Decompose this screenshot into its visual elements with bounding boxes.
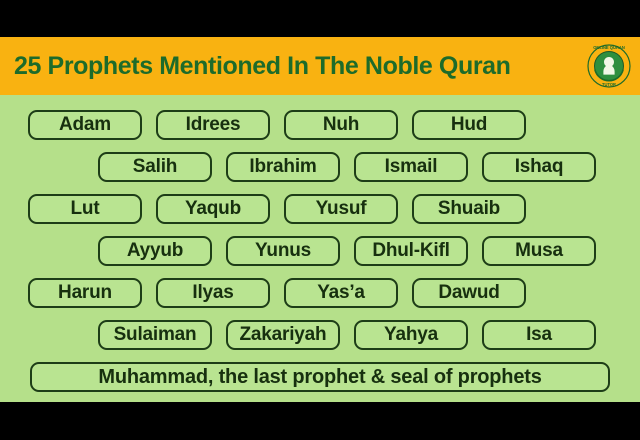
prophet-row: Harun Ilyas Yas’a Dawud	[0, 272, 640, 314]
header-banner: 25 Prophets Mentioned In The Noble Quran…	[0, 37, 640, 95]
prophets-list-panel: Adam Idrees Nuh Hud Salih Ibrahim Ismail…	[0, 95, 640, 402]
prophet-pill[interactable]: Zakariyah	[226, 320, 340, 350]
page-title: 25 Prophets Mentioned In The Noble Quran	[14, 54, 511, 79]
prophet-pill[interactable]: Shuaib	[412, 194, 526, 224]
prophet-pill[interactable]: Yahya	[354, 320, 468, 350]
prophet-pill[interactable]: Ilyas	[156, 278, 270, 308]
prophet-pill[interactable]: Ibrahim	[226, 152, 340, 182]
screenshot-root: 25 Prophets Mentioned In The Noble Quran…	[0, 0, 640, 440]
prophet-row: Lut Yaqub Yusuf Shuaib	[0, 188, 640, 230]
prophet-pill[interactable]: Ismail	[354, 152, 468, 182]
prophet-pill[interactable]: Salih	[98, 152, 212, 182]
prophet-pill[interactable]: Ishaq	[482, 152, 596, 182]
prophet-pill[interactable]: Ayyub	[98, 236, 212, 266]
prophet-pill[interactable]: Lut	[28, 194, 142, 224]
prophet-pill[interactable]: Nuh	[284, 110, 398, 140]
prophet-pill[interactable]: Yunus	[226, 236, 340, 266]
prophet-pill[interactable]: Yas’a	[284, 278, 398, 308]
prophet-row: Ayyub Yunus Dhul-Kifl Musa	[0, 230, 640, 272]
prophet-pill-muhammad[interactable]: Muhammad, the last prophet & seal of pro…	[30, 362, 610, 392]
letterbox-top-bar	[0, 0, 640, 37]
prophet-pill[interactable]: Harun	[28, 278, 142, 308]
prophet-pill[interactable]: Idrees	[156, 110, 270, 140]
prophet-pill[interactable]: Yaqub	[156, 194, 270, 224]
final-prophet-row: Muhammad, the last prophet & seal of pro…	[0, 356, 640, 398]
prophet-pill[interactable]: Dhul-Kifl	[354, 236, 468, 266]
prophet-pill[interactable]: Dawud	[412, 278, 526, 308]
prophet-pill[interactable]: Musa	[482, 236, 596, 266]
prophet-pill[interactable]: Sulaiman	[98, 320, 212, 350]
prophet-row: Adam Idrees Nuh Hud	[0, 104, 640, 146]
prophet-pill[interactable]: Isa	[482, 320, 596, 350]
svg-text:TUTOR: TUTOR	[602, 82, 616, 87]
svg-text:ONLINE QURAN: ONLINE QURAN	[593, 45, 625, 50]
prophet-row: Salih Ibrahim Ismail Ishaq	[0, 146, 640, 188]
prophet-pill[interactable]: Adam	[28, 110, 142, 140]
prophet-pill[interactable]: Hud	[412, 110, 526, 140]
prophet-row: Sulaiman Zakariyah Yahya Isa	[0, 314, 640, 356]
letterbox-bottom-bar	[0, 402, 640, 440]
online-quran-tutor-logo-icon: ONLINE QURAN TUTOR	[586, 43, 632, 89]
prophet-pill[interactable]: Yusuf	[284, 194, 398, 224]
